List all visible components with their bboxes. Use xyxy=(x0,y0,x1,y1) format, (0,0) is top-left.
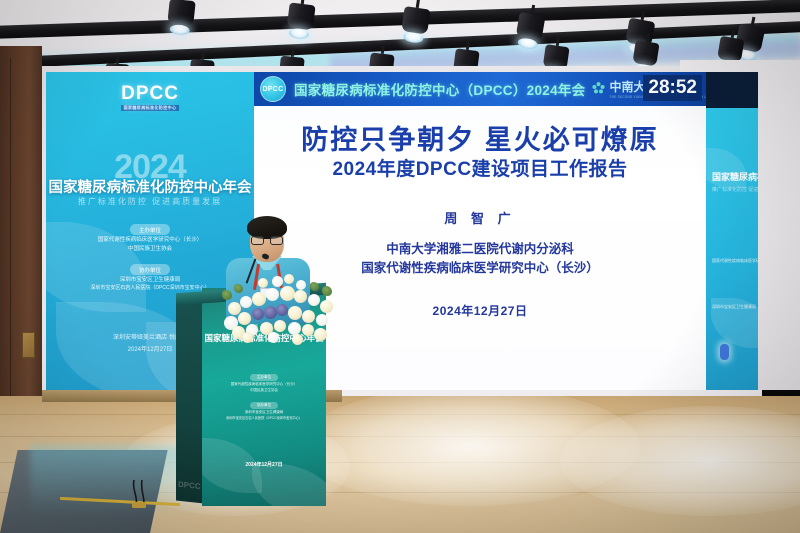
stage-light-back-3 xyxy=(400,4,431,41)
stage-light-back-4 xyxy=(515,10,546,48)
led-screen: DPCC 国家糖尿病标准化防控中心 2024 国家糖尿病标准化防控中心年会 推广… xyxy=(46,72,758,390)
wall-plaque xyxy=(22,332,35,358)
dpcc-badge-icon: DPCC xyxy=(260,76,286,102)
flower-white-4 xyxy=(266,288,279,301)
podium-organizer-label: 主办单位 xyxy=(250,374,278,381)
panel-organizer-line-2: 中国民族卫生协会 xyxy=(128,245,172,253)
flower-cream-20 xyxy=(274,320,286,332)
flower-cream-15 xyxy=(302,310,315,323)
flower-green-30 xyxy=(310,282,319,291)
flower-white-7 xyxy=(308,294,320,306)
flower-cream-6 xyxy=(294,290,307,303)
panel-organizer-label: 主办单位 xyxy=(130,224,170,235)
slide-subtitle: 2024年度DPCC建设项目工作报告 xyxy=(254,154,706,181)
slide-speaker-name: 周 智 广 xyxy=(254,208,706,227)
flower-cream-34 xyxy=(292,334,303,345)
flower-arrangement xyxy=(222,262,344,342)
flower-white-29 xyxy=(296,280,306,290)
podium-side-panel: DPCC xyxy=(176,295,204,504)
podium-coorganizer-line-2: 深圳市宝安区石岩人民医院（DPCC深圳市宝安中心） xyxy=(226,416,302,421)
flower-white-2 xyxy=(240,296,252,308)
flower-cream-14 xyxy=(288,306,302,320)
flower-cream-22 xyxy=(302,324,314,336)
stage-light-back-1 xyxy=(167,0,196,33)
flower-cream-32 xyxy=(242,332,253,343)
panel-coorganizer-line-1: 深圳市宝安区卫生健康局 xyxy=(120,276,181,284)
podium-coorganizer-label: 协办单位 xyxy=(250,402,278,409)
flower-cream-8 xyxy=(320,300,333,313)
panel-organizer-line-1: 国家代谢性疾病临床医学研究中心（长沙） xyxy=(98,236,203,244)
podium-side-mark: DPCC xyxy=(178,480,201,491)
flower-white-21 xyxy=(288,322,301,335)
stage-light-back-2 xyxy=(286,0,316,37)
podium-cables xyxy=(130,480,166,508)
flower-purple-13 xyxy=(276,304,288,316)
panel-dpcc-logo: DPCC 国家糖尿病标准化防控中心 xyxy=(121,84,179,111)
affiliation-line-1: 中南大学湘雅二医院代谢内分泌科 xyxy=(254,240,706,259)
panel-right-slogan: 推广标准化防控 促进高质量发展 xyxy=(712,186,758,193)
speaker-glasses xyxy=(251,236,283,245)
flower-white-26 xyxy=(272,276,283,287)
panel-slogan: 推广标准化防控 促进高质量发展 xyxy=(78,196,222,207)
side-panel-right: 国家糖尿病标准化防控中心年会 推广标准化防控 促进高质量发展 国家代谢性疾病临床… xyxy=(706,108,758,390)
podium-organizer-line-1: 国家代谢性疾病临床医学研究中心（长沙） xyxy=(231,382,298,388)
podium-organizer-line-2: 中国民族卫生协会 xyxy=(250,388,278,394)
banner-title: 国家糖尿病标准化防控中心（DPCC）2024年会 xyxy=(294,79,585,99)
panel-dpcc-subtext: 国家糖尿病标准化防控中心 xyxy=(121,105,179,111)
conference-photo: DPCC 国家糖尿病标准化防控中心 2024 国家糖尿病标准化防控中心年会 推广… xyxy=(0,0,800,533)
slide-title: 防控只争朝夕 星火必可燎原 xyxy=(254,118,706,157)
podium-date: 2024年12月27日 xyxy=(245,461,282,468)
wood-wall-panel xyxy=(0,46,42,446)
panel-right-title: 国家糖尿病标准化防控中心年会 xyxy=(712,170,758,183)
flower-green-25 xyxy=(322,286,332,296)
panel-right-coorganizer: 深圳市宝安区卫生健康局 xyxy=(712,304,756,310)
podium-coorganizer-line-1: 深圳市宝安区卫生健康局 xyxy=(245,410,284,416)
panel-title: 国家糖尿病标准化防控中心年会 xyxy=(49,176,252,197)
panel-right-organizer: 国家代谢性疾病临床医学研究中心（长沙） xyxy=(712,258,758,264)
flower-cream-10 xyxy=(238,312,251,325)
flower-white-16 xyxy=(316,314,328,326)
flower-cream-3 xyxy=(252,292,266,306)
flower-cream-5 xyxy=(280,286,295,301)
flower-cream-27 xyxy=(284,274,294,284)
panel-dpcc-text: DPCC xyxy=(121,83,179,104)
flower-purple-12 xyxy=(264,306,277,319)
countdown-timer: 28:52 xyxy=(643,75,702,101)
flower-green-24 xyxy=(222,290,232,300)
flower-cream-28 xyxy=(258,278,268,288)
panel-coorganizer-label: 协办单位 xyxy=(130,264,170,275)
xiangya-flower-icon xyxy=(591,81,606,96)
slide-banner: DPCC 国家糖尿病标准化防控中心（DPCC）2024年会 中南大学湘雅 THE… xyxy=(254,72,706,106)
flower-cream-23 xyxy=(314,328,327,341)
flower-green-31 xyxy=(234,284,243,293)
panel-date: 2024年12月27日 xyxy=(128,346,173,356)
flower-white-33 xyxy=(268,332,279,343)
flower-purple-11 xyxy=(252,308,264,320)
panel-right-light-spot xyxy=(720,344,729,360)
